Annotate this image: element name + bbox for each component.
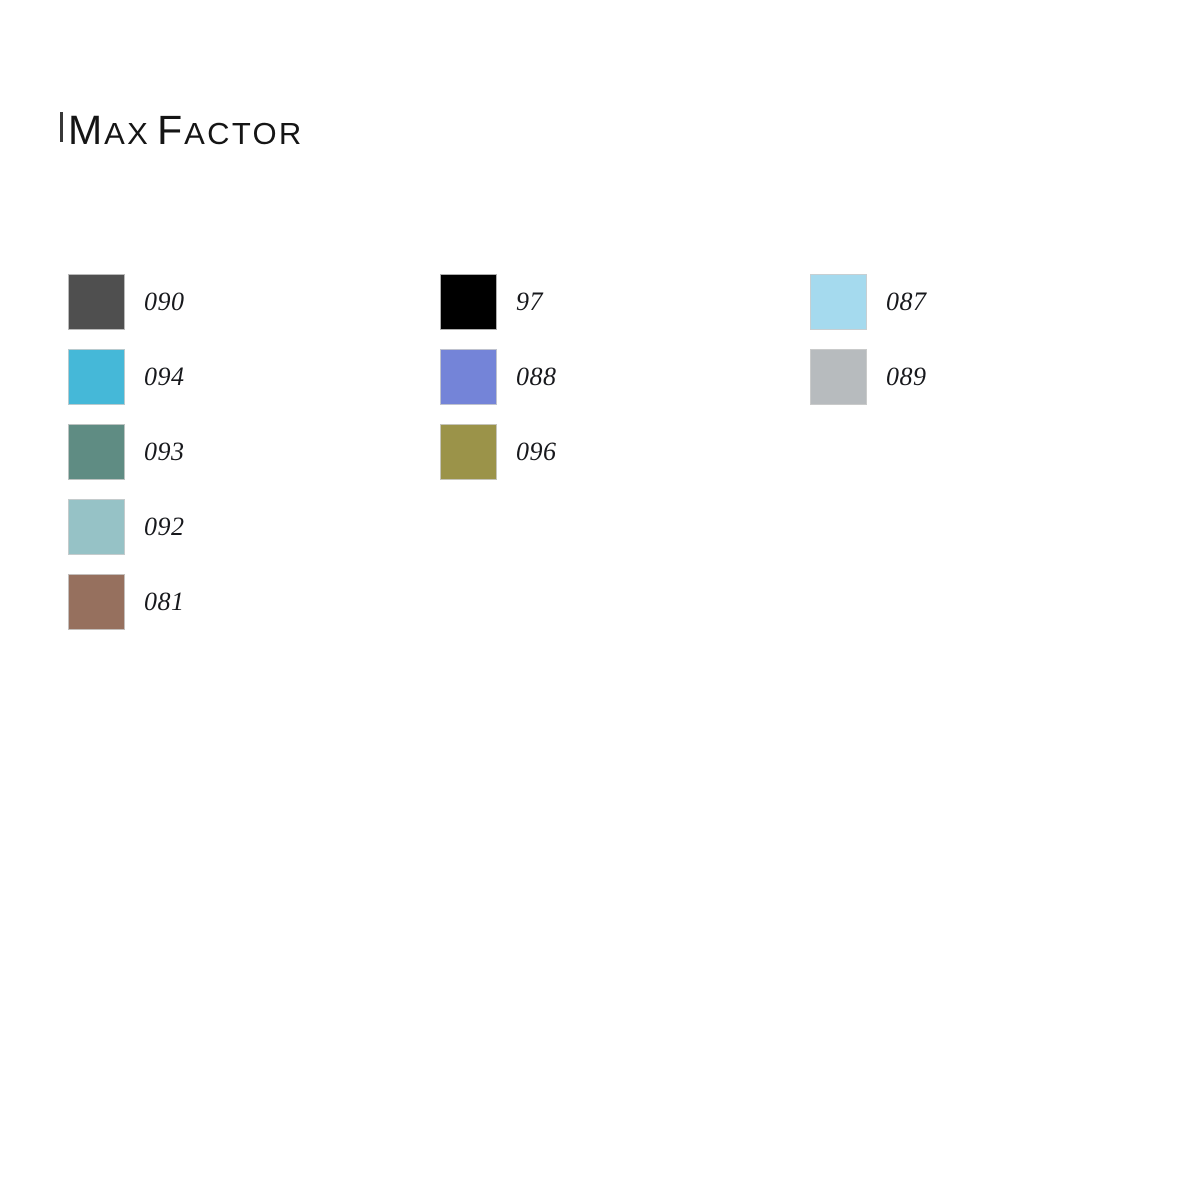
color-swatch-icon[interactable] [68,574,125,630]
swatch-column-3: 087 089 [810,274,1110,424]
swatch-column-1: 090 094 093 092 081 [68,274,440,649]
color-swatch-icon[interactable] [68,424,125,480]
swatch-label: 97 [516,289,543,315]
swatch-label: 081 [144,589,185,615]
brand-letters-ax: ax [104,118,150,149]
swatch-label: 094 [144,364,185,390]
swatch-label: 089 [886,364,927,390]
color-swatch-icon[interactable] [810,274,867,330]
swatch-item[interactable]: 087 [810,274,1110,330]
page-root: MaxFactor 090 094 093 092 [0,0,1200,1200]
swatch-item[interactable]: 092 [68,499,440,555]
brand-letter-f: F [157,110,184,151]
logo-tick-mark [60,112,63,142]
swatch-item[interactable]: 088 [440,349,810,405]
swatch-label: 090 [144,289,185,315]
brand-logo: MaxFactor [60,98,304,162]
swatch-item[interactable]: 081 [68,574,440,630]
swatch-item[interactable]: 096 [440,424,810,480]
brand-letters-actor: actor [184,118,303,149]
swatch-label: 088 [516,364,557,390]
swatch-label: 096 [516,439,557,465]
swatch-item[interactable]: 094 [68,349,440,405]
swatch-item[interactable]: 093 [68,424,440,480]
swatch-label: 092 [144,514,185,540]
color-swatch-grid: 090 094 093 092 081 97 [68,274,1128,649]
color-swatch-icon[interactable] [68,349,125,405]
swatch-item[interactable]: 089 [810,349,1110,405]
swatch-column-2: 97 088 096 [440,274,810,499]
swatch-item[interactable]: 97 [440,274,810,330]
color-swatch-icon[interactable] [440,424,497,480]
swatch-label: 093 [144,439,185,465]
color-swatch-icon[interactable] [440,349,497,405]
color-swatch-icon[interactable] [440,274,497,330]
swatch-label: 087 [886,289,927,315]
color-swatch-icon[interactable] [810,349,867,405]
swatch-item[interactable]: 090 [68,274,440,330]
brand-letter-m: M [68,110,104,151]
brand-wordmark: MaxFactor [68,110,304,151]
color-swatch-icon[interactable] [68,274,125,330]
color-swatch-icon[interactable] [68,499,125,555]
